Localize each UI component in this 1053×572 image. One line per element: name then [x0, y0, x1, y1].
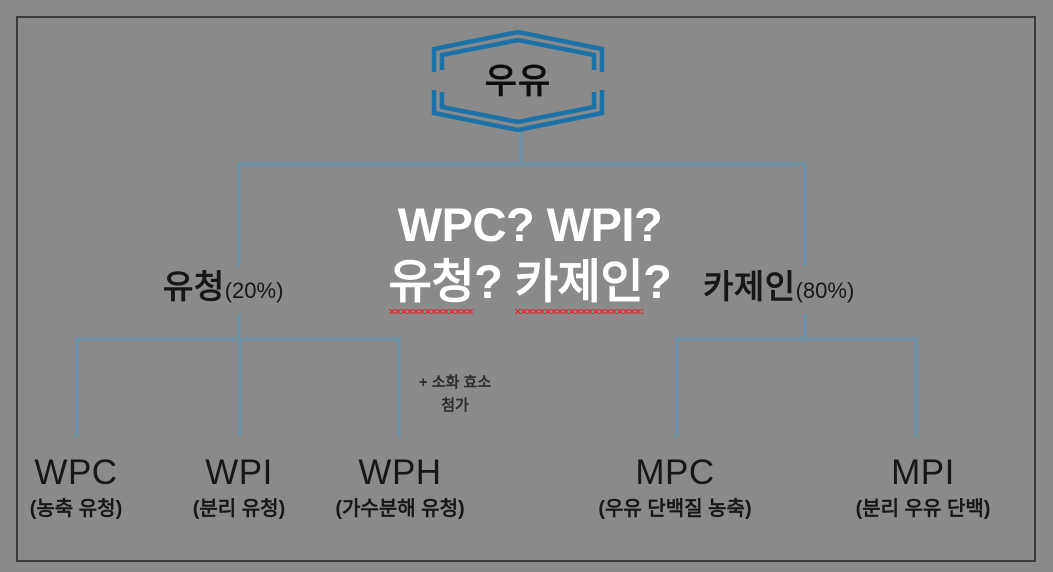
leaf-node-wpc: WPC (농축 유청) [0, 455, 152, 521]
overlay-separator: ? [474, 255, 515, 308]
connector-tier1-bar [237, 162, 807, 166]
leaf-node-mpc-sub: (우유 단백질 농축) [575, 498, 775, 521]
overlay-headline-line-1: WPC? WPI? [330, 196, 730, 253]
leaf-node-wpc-code: WPC [0, 455, 152, 492]
diagram-canvas: 우유 유청(20%) 카제인(80%) + 소화 효소 첨가 WPC (농축 유… [0, 0, 1053, 572]
connector-root-stem [519, 132, 523, 164]
leaf-node-wpi-sub: (분리 유청) [163, 498, 315, 521]
leaf-node-wph: WPH (가수분해 유청) [310, 455, 490, 521]
root-node-label: 우유 [428, 30, 608, 132]
node-whey-percent: (20%) [225, 278, 284, 303]
node-whey: 유청(20%) [163, 270, 283, 303]
annotation-line-1: + 소화 효소 [390, 372, 520, 395]
root-node-milk: 우유 [428, 30, 608, 132]
overlay-headline-line-2: 유청? 카제인? [330, 253, 730, 310]
overlay-headline: WPC? WPI? 유청? 카제인? [330, 196, 730, 311]
node-whey-label: 유청 [163, 268, 225, 305]
leaf-node-mpi-code: MPI [828, 455, 1018, 492]
connector-casein-drop-mpc [675, 337, 679, 437]
connector-tier1-right-drop [803, 162, 807, 266]
connector-tier1-left-drop [237, 162, 241, 266]
leaf-node-wph-code: WPH [310, 455, 490, 492]
overlay-trailing-question: ? [643, 255, 671, 308]
connector-whey-drop-wpc [75, 337, 79, 437]
annotation-digestive-enzyme: + 소화 효소 첨가 [390, 372, 520, 417]
leaf-node-mpi-sub: (분리 우유 단백) [828, 498, 1018, 521]
leaf-node-mpc: MPC (우유 단백질 농축) [575, 455, 775, 521]
overlay-misspelled-casein: 카제인 [515, 253, 643, 310]
leaf-node-wph-sub: (가수분해 유청) [310, 498, 490, 521]
node-casein-percent: (80%) [796, 278, 855, 303]
overlay-misspelled-whey: 유청 [389, 253, 474, 310]
connector-casein-bar [675, 337, 918, 341]
annotation-line-2: 첨가 [390, 395, 520, 418]
leaf-node-wpi: WPI (분리 유청) [163, 455, 315, 521]
connector-whey-drop-wpi [238, 337, 242, 437]
connector-casein-drop-mpi [914, 337, 918, 437]
leaf-node-mpi: MPI (분리 우유 단백) [828, 455, 1018, 521]
leaf-node-mpc-code: MPC [575, 455, 775, 492]
leaf-node-wpi-code: WPI [163, 455, 315, 492]
leaf-node-wpc-sub: (농축 유청) [0, 498, 152, 521]
